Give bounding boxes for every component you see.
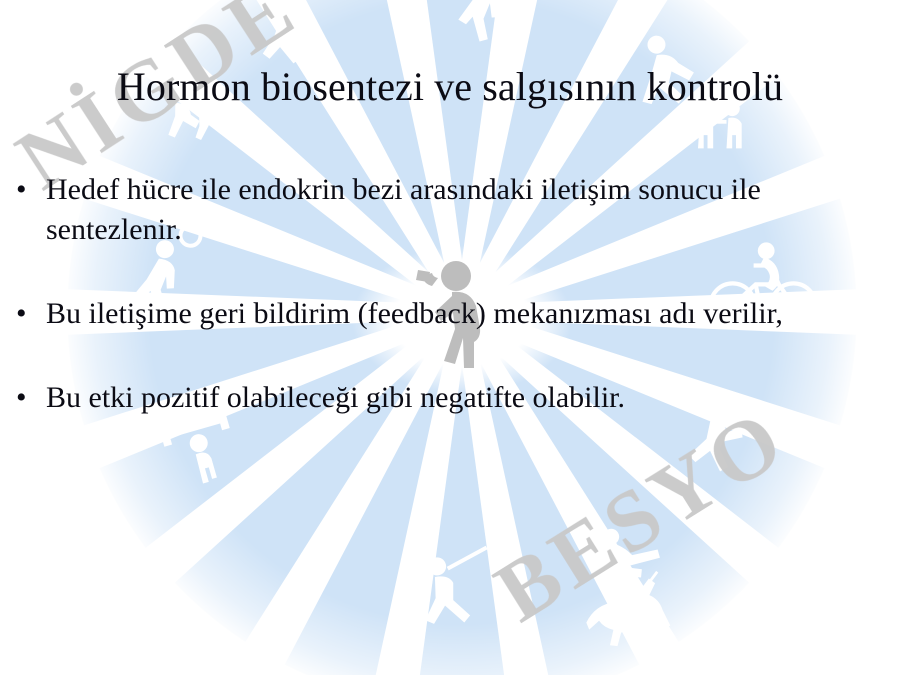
bullet-item-2: • Bu iletişime geri bildirim (feedback) … xyxy=(8,294,892,334)
bullet-text-3: Bu etki pozitif olabileceği gibi negatif… xyxy=(46,378,892,418)
bullet-marker-icon: • xyxy=(16,378,27,418)
presentation-slide: NİGDE BESYO Hormon biosentezi ve salgısı… xyxy=(0,0,900,675)
bullet-item-1: • Hedef hücre ile endokrin bezi arasında… xyxy=(8,170,892,250)
bullet-marker-icon: • xyxy=(16,294,27,334)
bullet-item-3: • Bu etki pozitif olabileceği gibi negat… xyxy=(8,378,892,418)
slide-title: Hormon biosentezi ve salgısının kontrolü xyxy=(60,60,840,113)
bullet-text-1: Hedef hücre ile endokrin bezi arasındaki… xyxy=(46,170,892,250)
slide-content: Hormon biosentezi ve salgısının kontrolü… xyxy=(0,0,900,675)
bullet-text-2: Bu iletişime geri bildirim (feedback) me… xyxy=(46,294,892,334)
bullet-list: • Hedef hücre ile endokrin bezi arasında… xyxy=(8,170,892,418)
bullet-marker-icon: • xyxy=(16,170,27,210)
